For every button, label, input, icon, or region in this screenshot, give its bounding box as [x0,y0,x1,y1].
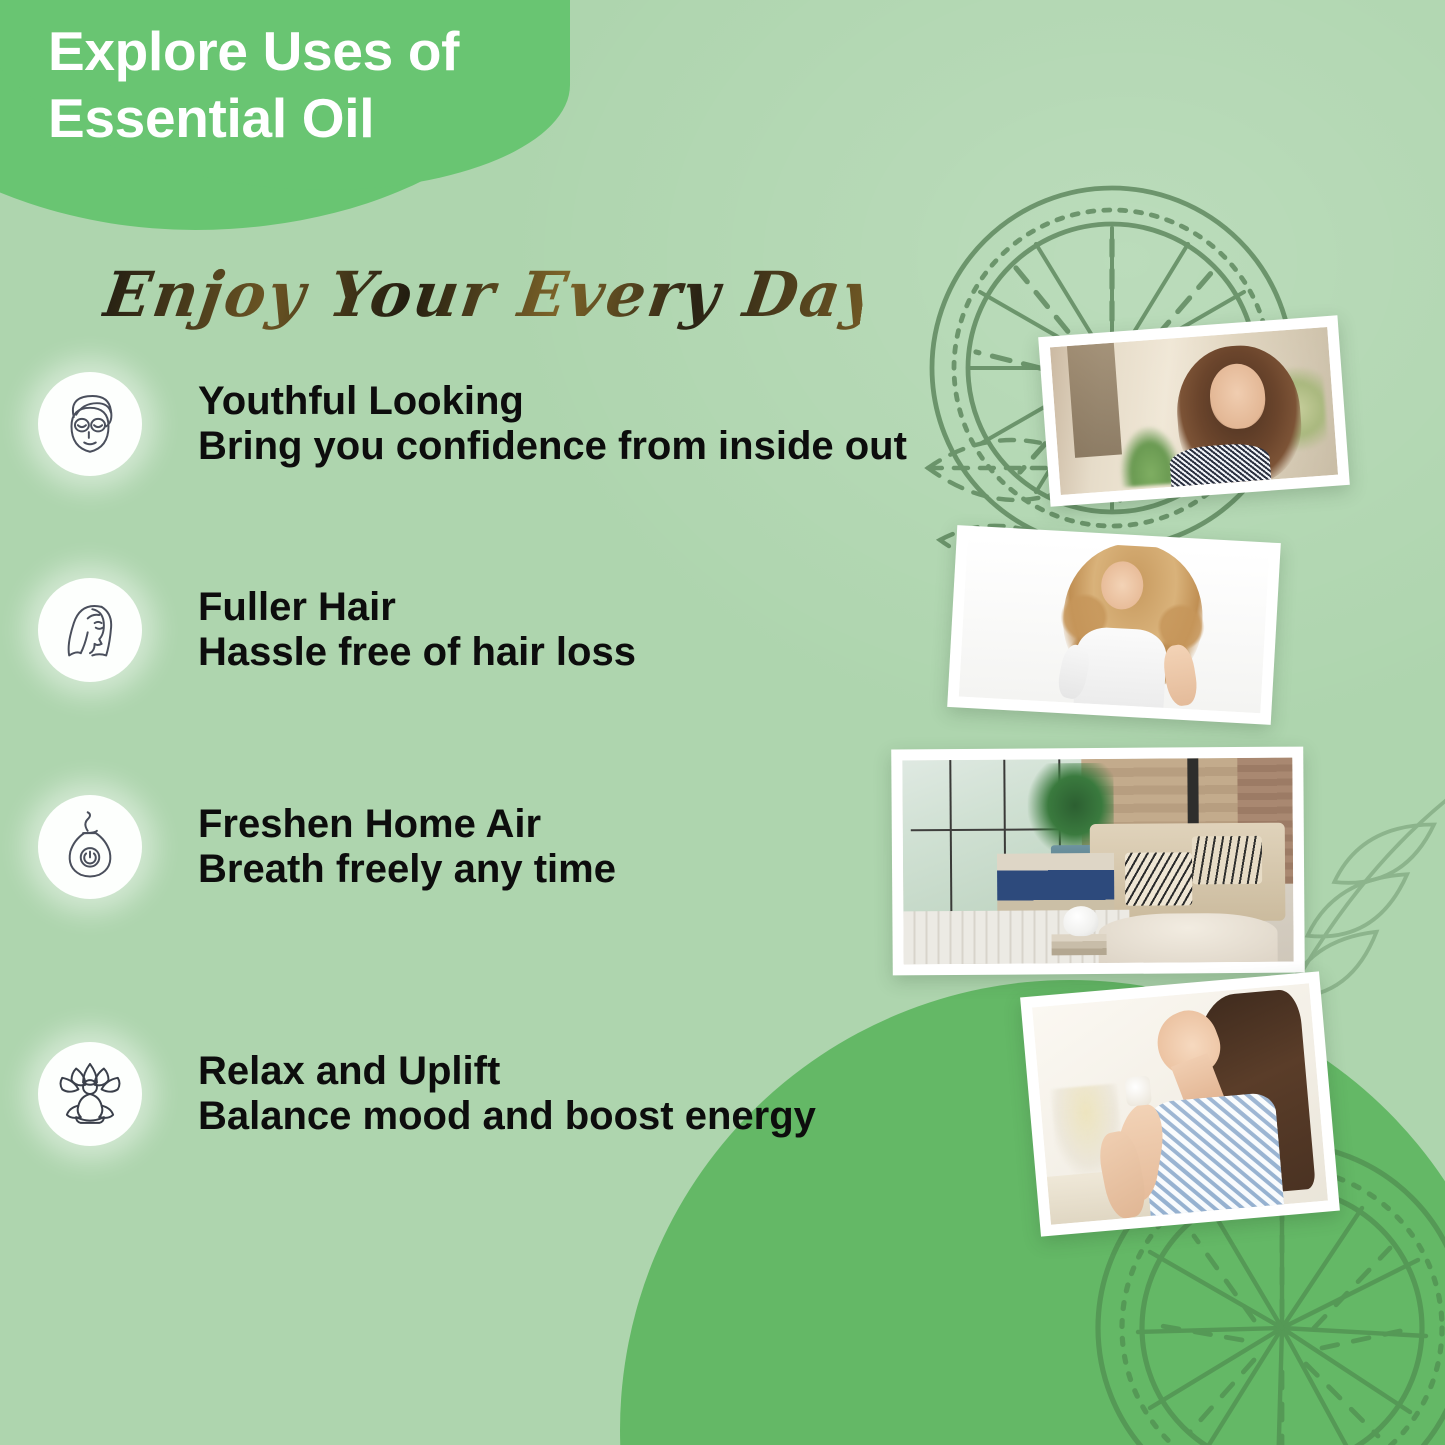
feature-subtitle: Breath freely any time [198,847,616,892]
feature-item-fuller-hair: Fuller Hair Hassle free of hair loss [38,578,636,682]
photo-image [1032,983,1328,1224]
feature-item-relax-and-uplift: Relax and Uplift Balance mood and boost … [38,1042,816,1146]
long-hair-profile-icon [38,578,142,682]
photo-smiling-woman-indoors [1038,315,1350,507]
feature-title: Youthful Looking [198,379,907,424]
photo-blonde-wavy-hair [947,525,1281,725]
lotus-meditation-icon [38,1042,142,1146]
page-title-line-2: Essential Oil [48,85,688,152]
photo-image [1050,327,1338,495]
feature-subtitle: Bring you confidence from inside out [198,424,907,469]
feature-title: Fuller Hair [198,585,636,630]
feature-subtitle: Balance mood and boost energy [198,1094,816,1139]
feature-subtitle: Hassle free of hair loss [198,630,636,675]
feature-text-freshen-home-air: Freshen Home Air Breath freely any time [198,802,616,892]
photo-image [902,758,1293,965]
photo-living-room-diffuser [891,747,1305,976]
face-mask-icon [38,372,142,476]
feature-text-relax-and-uplift: Relax and Uplift Balance mood and boost … [198,1049,816,1139]
aroma-diffuser-icon [38,795,142,899]
page-title: Explore Uses of Essential Oil [48,18,688,152]
tagline-script: Enjoy Your Every Day [99,258,869,331]
feature-text-youthful-looking: Youthful Looking Bring you confidence fr… [198,379,907,469]
photo-woman-applying-perfume [1020,971,1340,1236]
feature-title: Relax and Uplift [198,1049,816,1094]
photo-image [959,537,1269,714]
feature-title: Freshen Home Air [198,802,616,847]
feature-text-fuller-hair: Fuller Hair Hassle free of hair loss [198,585,636,675]
feature-item-youthful-looking: Youthful Looking Bring you confidence fr… [38,372,907,476]
page-title-line-1: Explore Uses of [48,18,688,85]
poster-canvas: Explore Uses of Essential Oil Enjoy Your… [0,0,1445,1445]
feature-item-freshen-home-air: Freshen Home Air Breath freely any time [38,795,616,899]
